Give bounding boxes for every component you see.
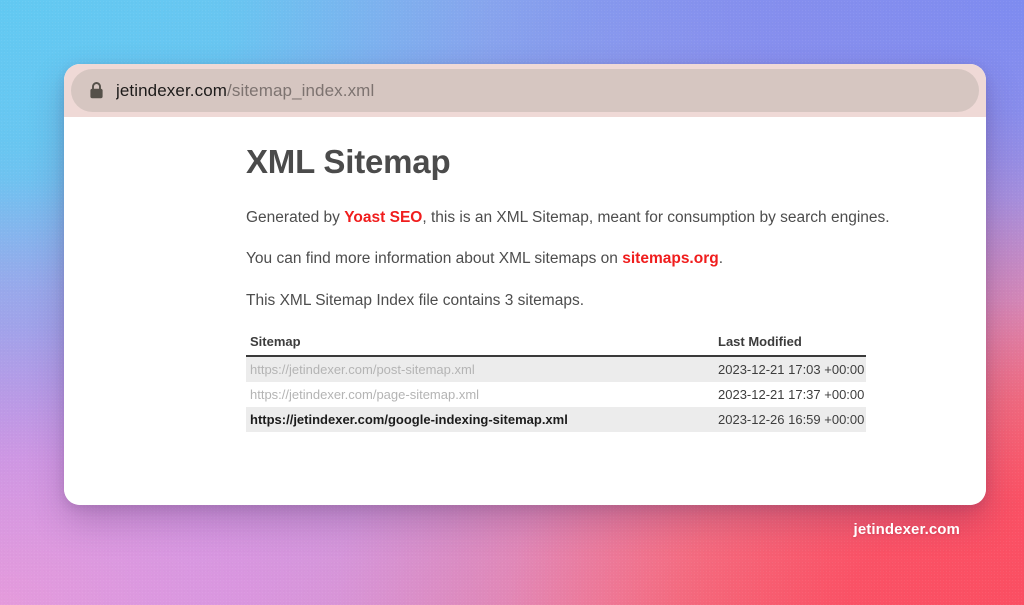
- last-modified-cell: 2023-12-21 17:37 +00:00: [714, 382, 866, 407]
- lock-icon: [89, 82, 104, 99]
- sitemap-link[interactable]: https://jetindexer.com/google-indexing-s…: [250, 412, 568, 427]
- table-row: https://jetindexer.com/google-indexing-s…: [246, 407, 866, 432]
- sitemap-url-cell: https://jetindexer.com/page-sitemap.xml: [246, 382, 714, 407]
- sitemap-table-body: https://jetindexer.com/post-sitemap.xml2…: [246, 356, 866, 432]
- sitemap-url-cell: https://jetindexer.com/post-sitemap.xml: [246, 356, 714, 382]
- last-modified-cell: 2023-12-21 17:03 +00:00: [714, 356, 866, 382]
- more-info-text-before: You can find more information about XML …: [246, 250, 622, 267]
- table-row: https://jetindexer.com/page-sitemap.xml2…: [246, 382, 866, 407]
- address-bar-path: /sitemap_index.xml: [227, 81, 374, 100]
- table-row: https://jetindexer.com/post-sitemap.xml2…: [246, 356, 866, 382]
- intro-text-after: , this is an XML Sitemap, meant for cons…: [422, 209, 889, 226]
- sitemaps-org-link[interactable]: sitemaps.org: [622, 250, 718, 267]
- browser-toolbar: jetindexer.com/sitemap_index.xml: [64, 64, 986, 117]
- address-bar[interactable]: jetindexer.com/sitemap_index.xml: [71, 69, 979, 112]
- watermark: jetindexer.com: [854, 521, 960, 538]
- sitemap-count-paragraph: This XML Sitemap Index file contains 3 s…: [246, 290, 866, 312]
- sitemap-link[interactable]: https://jetindexer.com/post-sitemap.xml: [250, 362, 475, 377]
- page-viewport: XML Sitemap Generated by Yoast SEO, this…: [64, 117, 986, 505]
- address-bar-domain: jetindexer.com: [116, 81, 227, 100]
- table-header-row: Sitemap Last Modified: [246, 334, 866, 356]
- column-header-last-modified[interactable]: Last Modified: [714, 334, 866, 356]
- address-bar-text: jetindexer.com/sitemap_index.xml: [116, 81, 374, 101]
- column-header-sitemap[interactable]: Sitemap: [246, 334, 714, 356]
- intro-text-before: Generated by: [246, 209, 344, 226]
- browser-window: jetindexer.com/sitemap_index.xml XML Sit…: [64, 64, 986, 505]
- page-content: XML Sitemap Generated by Yoast SEO, this…: [246, 143, 866, 432]
- sitemap-url-cell: https://jetindexer.com/google-indexing-s…: [246, 407, 714, 432]
- last-modified-cell: 2023-12-26 16:59 +00:00: [714, 407, 866, 432]
- sitemap-table: Sitemap Last Modified https://jetindexer…: [246, 334, 866, 432]
- more-info-text-after: .: [719, 250, 723, 267]
- page-title: XML Sitemap: [246, 143, 866, 181]
- intro-paragraph: Generated by Yoast SEO, this is an XML S…: [246, 207, 866, 229]
- more-info-paragraph: You can find more information about XML …: [246, 248, 866, 270]
- yoast-seo-link[interactable]: Yoast SEO: [344, 209, 422, 226]
- sitemap-link[interactable]: https://jetindexer.com/page-sitemap.xml: [250, 387, 479, 402]
